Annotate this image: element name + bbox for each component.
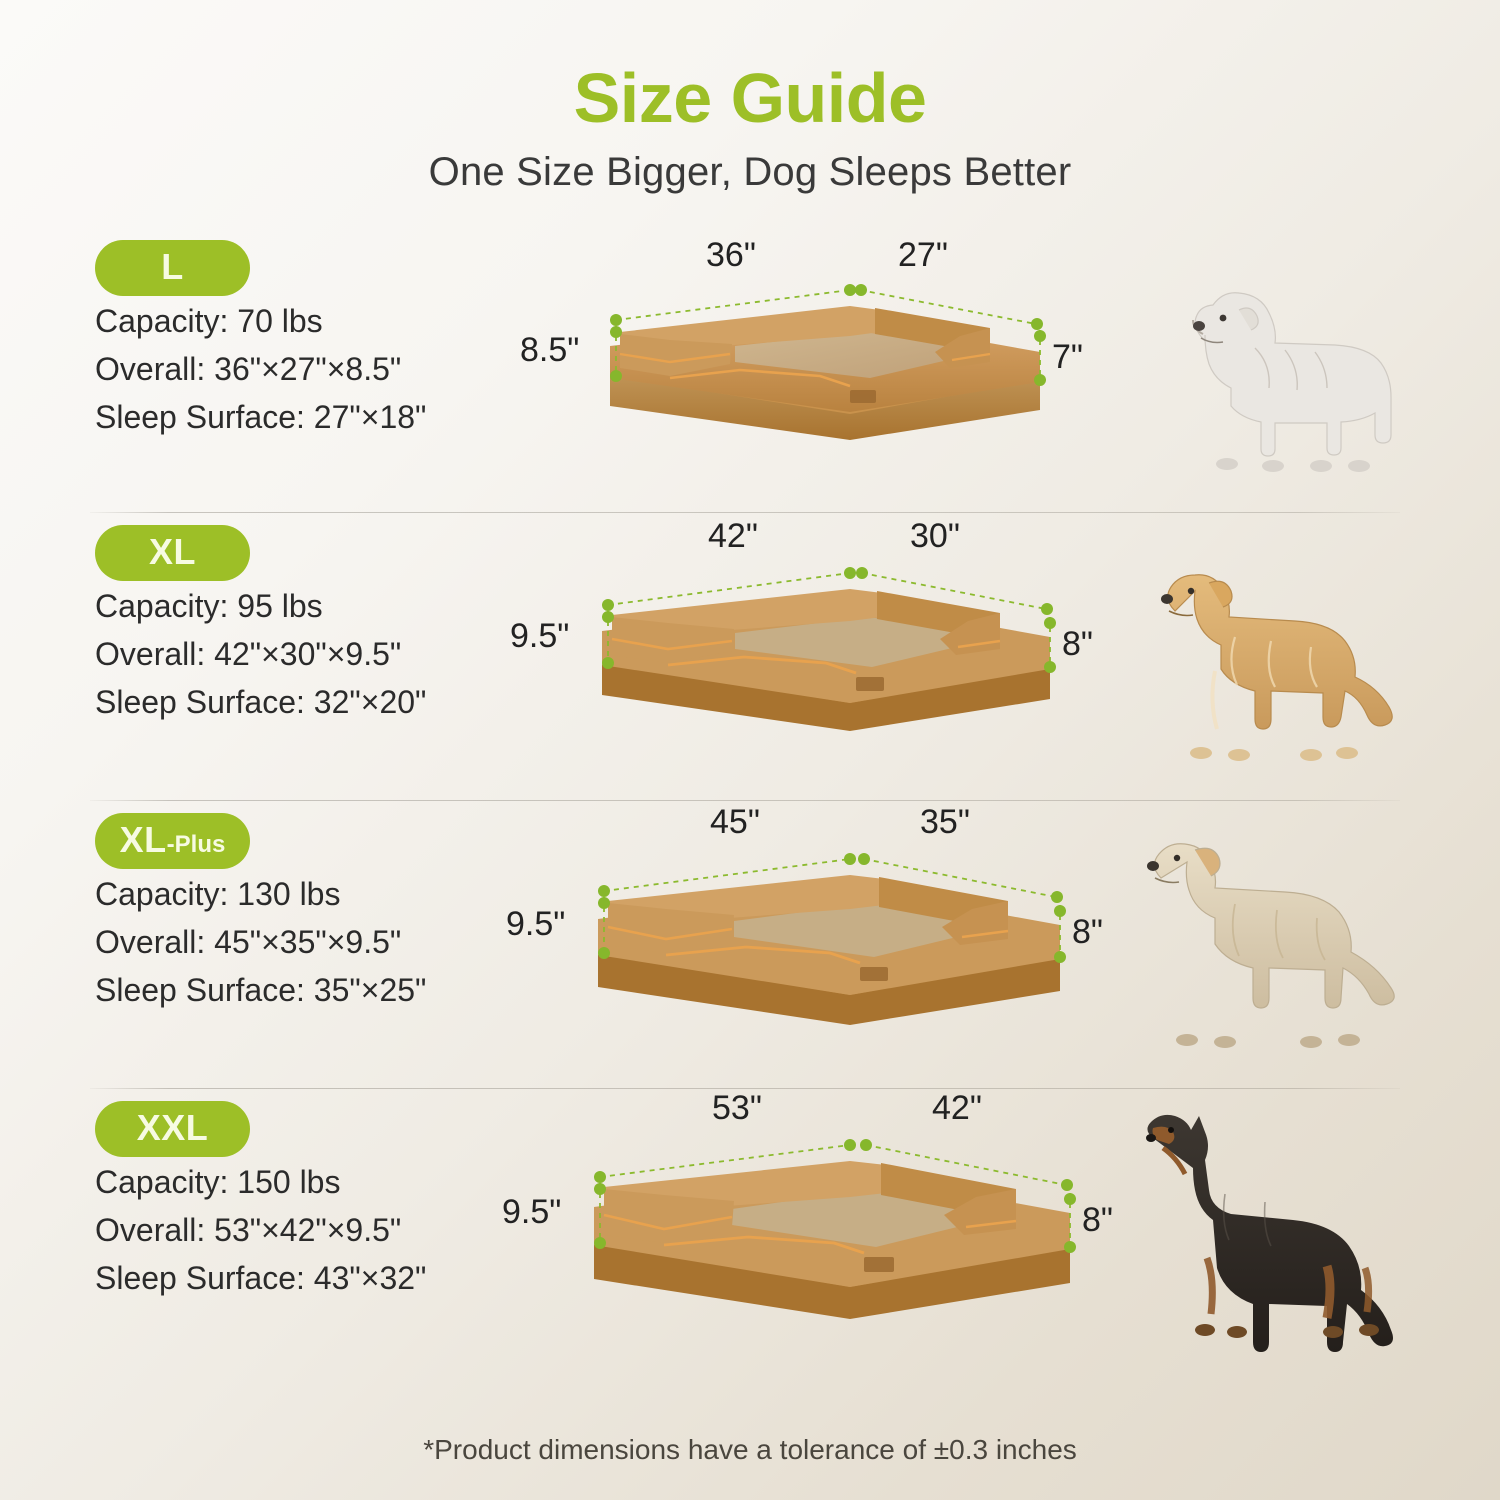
- capacity-text: Capacity: 130 lbs: [95, 871, 525, 917]
- dim-height-label: 9.5": [510, 617, 569, 656]
- size-row-xxl: XXL Capacity: 150 lbs Overall: 53"×42"×9…: [0, 1089, 1500, 1377]
- sleep-surface-text: Sleep Surface: 27"×18": [95, 394, 525, 440]
- dim-length-label: 36": [706, 236, 756, 275]
- sleep-surface-text: Sleep Surface: 35"×25": [95, 967, 525, 1013]
- dog-silhouette-svg: [1105, 834, 1435, 1074]
- dog-image-golden-retriever: [1105, 521, 1435, 786]
- overall-text: Overall: 53"×42"×9.5": [95, 1207, 525, 1253]
- size-info-xxl: XXL Capacity: 150 lbs Overall: 53"×42"×9…: [95, 1101, 525, 1301]
- size-info-l: L Capacity: 70 lbs Overall: 36"×27"×8.5"…: [95, 240, 525, 440]
- bed-diagram-svg: [520, 801, 1090, 1081]
- page-header: Size Guide One Size Bigger, Dog Sleeps B…: [0, 0, 1500, 195]
- dog-image-doberman: [1105, 1097, 1435, 1362]
- dog-silhouette-svg: [1105, 1104, 1435, 1362]
- dim-height-label: 9.5": [502, 1193, 561, 1232]
- size-badge-label: XXL: [137, 1107, 209, 1148]
- dim-length-label: 45": [710, 803, 760, 842]
- footnote-text: *Product dimensions have a tolerance of …: [0, 1434, 1500, 1466]
- overall-text: Overall: 45"×35"×9.5": [95, 919, 525, 965]
- size-info-xl: XL Capacity: 95 lbs Overall: 42"×30"×9.5…: [95, 525, 525, 725]
- dog-image-white-bulldog: [1105, 236, 1435, 501]
- bed-diagram-svg: [520, 228, 1090, 508]
- size-badge-label: XL: [120, 819, 167, 860]
- bed-illustration-xl: 42" 30" 9.5" 8": [520, 513, 1090, 793]
- bed-illustration-xxl: 53" 42" 9.5" 8": [520, 1089, 1090, 1369]
- sleep-surface-text: Sleep Surface: 43"×32": [95, 1255, 525, 1301]
- dog-silhouette-svg: [1115, 561, 1435, 786]
- dim-width-label: 27": [898, 236, 948, 275]
- dim-height-label: 9.5": [506, 905, 565, 944]
- size-badge-xl[interactable]: XL: [95, 525, 250, 581]
- bed-diagram-svg: [520, 513, 1090, 793]
- size-badge-xl-plus[interactable]: XL-Plus: [95, 813, 250, 869]
- dim-width-label: 35": [920, 803, 970, 842]
- page-subtitle: One Size Bigger, Dog Sleeps Better: [0, 150, 1500, 195]
- sleep-surface-text: Sleep Surface: 32"×20": [95, 679, 525, 725]
- dim-side-label: 8": [1062, 625, 1093, 664]
- overall-text: Overall: 36"×27"×8.5": [95, 346, 525, 392]
- size-badge-suffix: -Plus: [167, 831, 226, 858]
- bed-illustration-l: 36" 27" 8.5" 7": [520, 228, 1090, 508]
- dog-image-yellow-labrador: [1105, 809, 1435, 1074]
- size-badge-label: XL: [149, 531, 196, 572]
- bed-diagram-svg: [520, 1089, 1090, 1369]
- dog-silhouette-svg: [1135, 286, 1435, 501]
- size-badge-l[interactable]: L: [95, 240, 250, 296]
- dim-length-label: 42": [708, 517, 758, 556]
- dim-width-label: 30": [910, 517, 960, 556]
- size-row-xl-plus: XL-Plus Capacity: 130 lbs Overall: 45"×3…: [0, 801, 1500, 1089]
- size-badge-label: L: [161, 246, 184, 287]
- dim-length-label: 53": [712, 1089, 762, 1128]
- size-row-xl: XL Capacity: 95 lbs Overall: 42"×30"×9.5…: [0, 513, 1500, 801]
- overall-text: Overall: 42"×30"×9.5": [95, 631, 525, 677]
- dim-height-label: 8.5": [520, 331, 579, 370]
- size-info-xl-plus: XL-Plus Capacity: 130 lbs Overall: 45"×3…: [95, 813, 525, 1013]
- dim-width-label: 42": [932, 1089, 982, 1128]
- capacity-text: Capacity: 70 lbs: [95, 298, 525, 344]
- dim-side-label: 8": [1072, 913, 1103, 952]
- dim-side-label: 7": [1052, 338, 1083, 377]
- size-row-l: L Capacity: 70 lbs Overall: 36"×27"×8.5"…: [0, 228, 1500, 513]
- page-title: Size Guide: [0, 62, 1500, 136]
- capacity-text: Capacity: 95 lbs: [95, 583, 525, 629]
- size-rows: L Capacity: 70 lbs Overall: 36"×27"×8.5"…: [0, 228, 1500, 1377]
- size-badge-xxl[interactable]: XXL: [95, 1101, 250, 1157]
- bed-illustration-xl-plus: 45" 35" 9.5" 8": [520, 801, 1090, 1081]
- capacity-text: Capacity: 150 lbs: [95, 1159, 525, 1205]
